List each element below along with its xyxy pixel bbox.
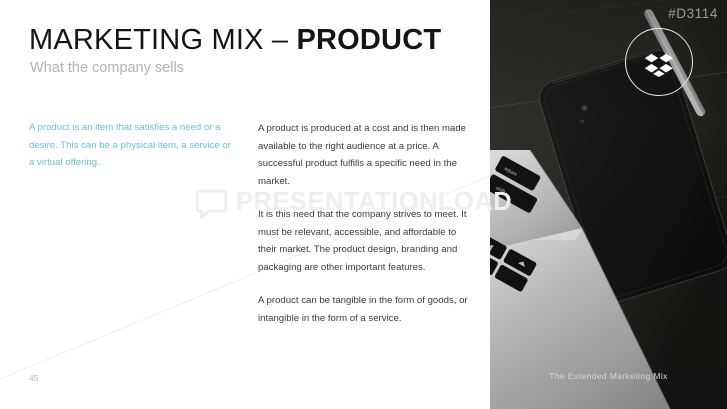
speech-bubble-icon	[196, 188, 227, 219]
slide-id-tag: #D3114	[668, 6, 718, 21]
body-paragraph: A product is produced at a cost and is t…	[258, 120, 470, 190]
page-title-bold: PRODUCT	[296, 24, 441, 56]
body-paragraph: It is this need that the company strives…	[258, 206, 470, 276]
body-paragraph: A product can be tangible in the form of…	[258, 292, 470, 327]
page-subtitle: What the company sells	[30, 58, 184, 78]
photo-panel: return shift #D3114	[490, 0, 727, 409]
left-column-text: A product is an item that satisfies a ne…	[29, 119, 235, 172]
photo-caption: The Extended Marketing Mix	[490, 371, 727, 381]
logo-badge	[625, 28, 693, 96]
page-title: MARKETING MIX – PRODUCT	[29, 23, 441, 57]
page-number: 45	[29, 373, 38, 383]
open-box-icon	[644, 48, 674, 77]
page-title-regular: MARKETING MIX –	[29, 24, 296, 56]
right-column: A product is produced at a cost and is t…	[258, 120, 470, 327]
slide: MARKETING MIX – PRODUCT What the company…	[0, 0, 727, 409]
